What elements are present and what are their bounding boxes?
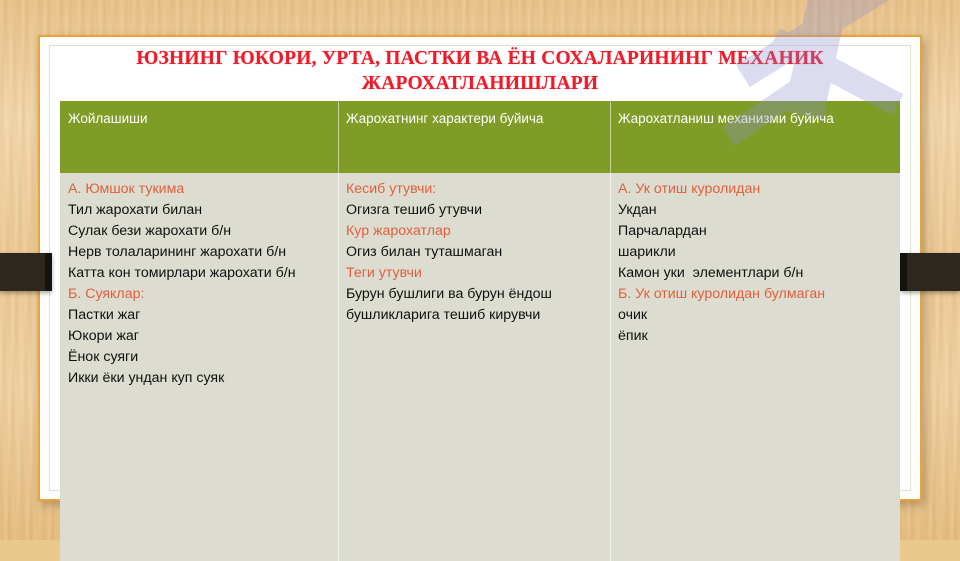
cell-line: шарикли — [618, 242, 894, 263]
column-header-xarakteri: Жарохатнинг характери буйича — [338, 101, 610, 173]
cell-line: Пастки жаг — [68, 305, 332, 326]
cell-line: Сулак бези жарохати б/н — [68, 221, 332, 242]
cell-section-heading: Кесиб утувчи: — [346, 179, 604, 200]
cell-line: Икки ёки ундан куп суяк — [68, 368, 332, 389]
table-header-row: Жойлашиши Жарохатнинг характери буйича Ж… — [60, 101, 900, 173]
cell-line: Парчалардан — [618, 221, 894, 242]
cell-line: Тил жарохати билан — [68, 200, 332, 221]
cell-line: Укдан — [618, 200, 894, 221]
table-body-row: А. Юмшок тукимаТил жарохати биланСулак б… — [60, 173, 900, 561]
cell-line: ёпик — [618, 326, 894, 347]
cell-section-heading: Теги утувчи — [346, 263, 604, 284]
left-bar-cap — [45, 253, 52, 291]
right-decorative-bar — [900, 253, 960, 291]
cell-section-heading: Б. Ук отиш куролидан булмаган — [618, 284, 894, 305]
cell-line: Огизга тешиб утувчи — [346, 200, 604, 221]
cell-section-heading: А. Юмшок тукима — [68, 179, 332, 200]
cell-line: очик — [618, 305, 894, 326]
cell-line: Катта кон томирлари жарохати б/н — [68, 263, 332, 284]
table-cell-mexanizmi: А. Ук отиш куролиданУкданПарчаларданшари… — [610, 173, 900, 561]
column-header-joylashishi: Жойлашиши — [60, 101, 338, 173]
cell-line: Бурун бушлиги ва бурун ёндош бушликлариг… — [346, 284, 604, 326]
cell-line: Ёнок суяги — [68, 347, 332, 368]
right-bar-cap — [900, 253, 907, 291]
cell-line: Юкори жаг — [68, 326, 332, 347]
cell-section-heading: Б. Суяклар: — [68, 284, 332, 305]
table-cell-xarakteri: Кесиб утувчи:Огизга тешиб утувчиКур жаро… — [338, 173, 610, 561]
content-table: Жойлашиши Жарохатнинг характери буйича Ж… — [60, 101, 900, 561]
cell-line: Камон уки элементлари б/н — [618, 263, 894, 284]
table-cell-joylashishi: А. Юмшок тукимаТил жарохати биланСулак б… — [60, 173, 338, 561]
column-header-mexanizmi: Жарохатланиш механизми буйича — [610, 101, 900, 173]
cell-section-heading: А. Ук отиш куролидан — [618, 179, 894, 200]
cell-line: Огиз билан туташмаган — [346, 242, 604, 263]
slide-title: ЮЗНИНГ ЮКОРИ, УРТА, ПАСТКИ ВА ЁН СОХАЛАР… — [52, 46, 908, 96]
cell-section-heading: Кур жарохатлар — [346, 221, 604, 242]
left-decorative-bar — [0, 253, 52, 291]
cell-line: Нерв толаларининг жарохати б/н — [68, 242, 332, 263]
